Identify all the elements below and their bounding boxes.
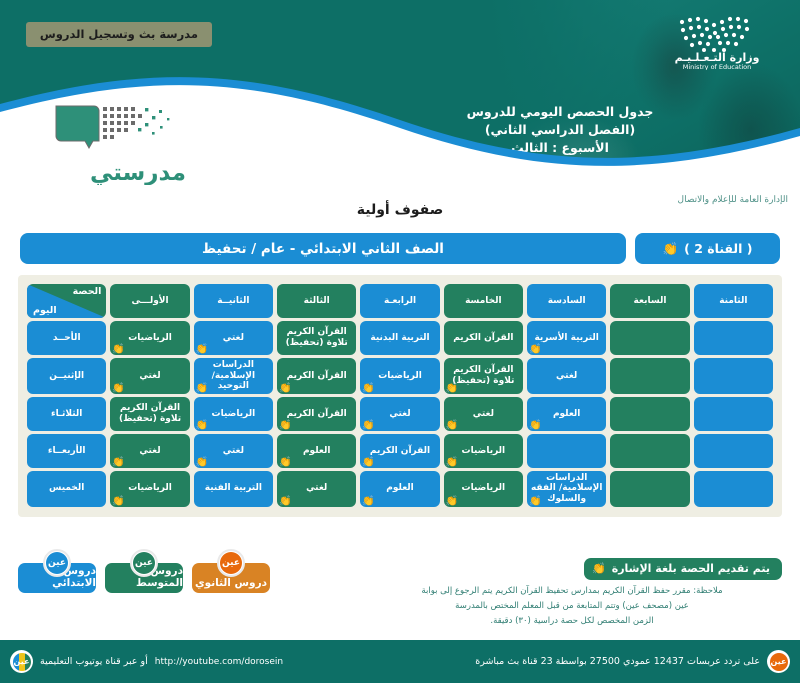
period-header-7: السابعة <box>610 284 689 318</box>
sign-language-hand-icon: 👏 <box>529 497 541 507</box>
channel-label: ( القناة 2 ) <box>684 241 752 256</box>
madrasati-logo-arabic: مدرستي <box>48 162 228 185</box>
lesson-name: القرآن الكريم تلاوة (تحفيظ) <box>286 327 348 348</box>
ain-lesson-button[interactable]: عيندروس الابتدائي <box>18 563 96 593</box>
day-header-cell: الإثنيــن <box>27 358 106 394</box>
youtube-url[interactable]: http://youtube.com/dorosein <box>155 657 283 667</box>
period-header-5: الخامسة <box>444 284 523 318</box>
ain-coin-icon: عين <box>43 549 71 577</box>
satellite-info-text: على تردد عربسات 12437 عمودي 27500 بواسطة… <box>475 656 760 667</box>
lesson-name: لغتي <box>306 483 327 493</box>
ain-coin-icon: عين <box>217 549 245 577</box>
sign-language-hand-icon: 👏 <box>279 458 291 468</box>
broadcast-school-badge: مدرسة بث وتسجيل الدروس <box>26 22 212 47</box>
lesson-cell: الرياضيات👏 <box>194 397 273 431</box>
footer-note: ملاحظة: مقرر حفظ القرآن الكريم بمدارس تح… <box>362 584 782 629</box>
sign-language-hand-icon: 👏 <box>196 458 208 468</box>
channel-badge[interactable]: ( القناة 2 ) 👏 <box>635 233 780 264</box>
lesson-cell: الرياضيات👏 <box>110 321 189 355</box>
lesson-cell: الدراسات الإسلامية/التوحيد👏 <box>194 358 273 394</box>
lesson-name: لغتي <box>223 446 244 456</box>
sign-language-hand-icon: 👏 <box>663 241 679 257</box>
sign-language-hand-icon: 👏 <box>446 458 458 468</box>
lesson-name: القرآن الكريم تلاوة (تحفيظ) <box>452 365 514 386</box>
lesson-name: الدراسات الإسلامية/ الفقه والسلوك <box>531 473 602 504</box>
sign-language-hand-icon: 👏 <box>112 384 124 394</box>
lesson-cell: القرآن الكريم <box>444 321 523 355</box>
madrasati-logo: مدرستي Madrasati <box>48 100 228 192</box>
ain-coin-label: عين <box>13 653 31 671</box>
table-row: العلوم👏لغتي👏لغتي👏القرآن الكريم👏الرياضيات… <box>27 397 773 431</box>
sign-language-hand-icon: 👏 <box>362 458 374 468</box>
sign-language-hand-icon: 👏 <box>446 384 458 394</box>
lesson-name: لغتي <box>139 371 160 381</box>
schedule-table: الثامنةالسابعةالسادسةالخامسةالرابعـةالثا… <box>23 281 777 510</box>
youtube-info: http://youtube.com/dorosein أو عبر قناة … <box>10 650 283 673</box>
footer-note-line-2: عين (مصحف عين) وتتم المتابعة من قبل المع… <box>362 599 782 614</box>
lesson-cell: التربية الأسرية👏 <box>527 321 606 355</box>
lesson-cell: الرياضيات👏 <box>444 471 523 507</box>
lesson-cell: القرآن الكريم تلاوة (تحفيظ)👏 <box>444 358 523 394</box>
lesson-name: التربية الفنية <box>205 483 262 493</box>
lesson-cell: لغتي👏 <box>194 434 273 468</box>
lesson-name: العلوم <box>553 409 580 419</box>
sign-language-hand-icon: 👏 <box>362 497 374 507</box>
bottom-info-bar: عين على تردد عربسات 12437 عمودي 27500 بو… <box>0 640 800 683</box>
sign-language-hand-icon: 👏 <box>279 497 291 507</box>
lesson-cell: القرآن الكريم👏 <box>360 434 439 468</box>
grade-band: صفوف أولية <box>0 199 800 218</box>
lesson-name: العلوم <box>303 446 330 456</box>
lesson-cell <box>610 434 689 468</box>
lesson-name: القرآن الكريم <box>370 446 430 456</box>
lesson-cell <box>694 358 773 394</box>
lesson-cell: لغتي👏 <box>360 397 439 431</box>
ain-coin-icon: عين <box>130 549 158 577</box>
table-corner-header: الحصةاليوم <box>27 284 106 318</box>
subheader-row: ( القناة 2 ) 👏 الصف الثاني الابتدائي - ع… <box>20 233 780 264</box>
day-header-cell: الثلاثـاء <box>27 397 106 431</box>
lesson-cell: الرياضيات👏 <box>360 358 439 394</box>
schedule-table-container: الثامنةالسابعةالسادسةالخامسةالرابعـةالثا… <box>18 275 782 517</box>
satellite-info: عين على تردد عربسات 12437 عمودي 27500 بو… <box>475 650 790 673</box>
ain-lesson-button[interactable]: عيندروس المتوسط <box>105 563 183 593</box>
ain-coin-label: عين <box>220 552 242 574</box>
lesson-cell: القرآن الكريم👏 <box>277 397 356 431</box>
lesson-cell <box>694 321 773 355</box>
lesson-cell <box>694 397 773 431</box>
lesson-cell <box>610 358 689 394</box>
lesson-name: العلوم <box>386 483 413 493</box>
lesson-name: لغتي <box>473 409 494 419</box>
lesson-cell <box>610 471 689 507</box>
lesson-name: القرآن الكريم <box>287 409 347 419</box>
lesson-name: لغتي <box>139 446 160 456</box>
sign-language-hand-icon: 👏 <box>196 345 208 355</box>
lesson-cell <box>694 471 773 507</box>
sign-language-hand-icon: 👏 <box>196 384 208 394</box>
lesson-name: الرياضيات <box>462 446 506 456</box>
sign-language-notice: يتم تقديم الحصة بلغة الإشارة 👏 <box>584 558 782 580</box>
lesson-cell: لغتي👏 <box>277 471 356 507</box>
lesson-name: الرياضيات <box>128 333 172 343</box>
lesson-cell: العلوم👏 <box>360 471 439 507</box>
period-header-3: الثالثة <box>277 284 356 318</box>
lesson-cell: لغتي <box>527 358 606 394</box>
lesson-cell <box>694 434 773 468</box>
lesson-name: لغتي <box>389 409 410 419</box>
lesson-cell: القرآن الكريم تلاوة (تحفيظ) <box>277 321 356 355</box>
lesson-cell: الرياضيات👏 <box>444 434 523 468</box>
lesson-name: القرآن الكريم تلاوة (تحفيظ) <box>119 403 181 424</box>
ain-coin-label: عين <box>770 653 788 671</box>
period-header-4: الرابعـة <box>360 284 439 318</box>
lesson-name: الرياضيات <box>128 483 172 493</box>
youtube-info-text: أو عبر قناة يوتيوب التعليمية <box>40 656 148 667</box>
ain-coin-label: عين <box>46 552 68 574</box>
schedule-table-head: الثامنةالسابعةالسادسةالخامسةالرابعـةالثا… <box>27 284 773 318</box>
ain-button-label: دروس الثانوي <box>195 577 267 589</box>
footer-note-line-1: ملاحظة: مقرر حفظ القرآن الكريم بمدارس تح… <box>362 584 782 599</box>
lesson-cell: القرآن الكريم تلاوة (تحفيظ) <box>110 397 189 431</box>
header-row: الثامنةالسابعةالسادسةالخامسةالرابعـةالثا… <box>27 284 773 318</box>
lesson-cell: لغتي👏 <box>110 434 189 468</box>
lesson-cell: العلوم👏 <box>277 434 356 468</box>
lesson-name: الرياضيات <box>212 409 256 419</box>
lesson-cell: التربية الفنية <box>194 471 273 507</box>
lesson-cell: القرآن الكريم👏 <box>277 358 356 394</box>
day-header-cell: الأحــد <box>27 321 106 355</box>
sign-language-hand-icon: 👏 <box>112 345 124 355</box>
lesson-cell: العلوم👏 <box>527 397 606 431</box>
lesson-cell: الدراسات الإسلامية/ الفقه والسلوك👏 <box>527 471 606 507</box>
table-row: الرياضيات👏القرآن الكريم👏العلوم👏لغتي👏لغتي… <box>27 434 773 468</box>
sign-language-hand-icon: 👏 <box>592 562 606 575</box>
sign-language-hand-icon: 👏 <box>446 497 458 507</box>
lesson-name: القرآن الكريم <box>287 371 347 381</box>
lesson-cell: التربية البدنية <box>360 321 439 355</box>
corner-period-label: الحصة <box>73 286 102 297</box>
lesson-name: لغتي <box>223 333 244 343</box>
footer-note-line-3: الزمن المخصص لكل حصة دراسية (٣٠) دقيقة. <box>362 614 782 629</box>
content-sheet: الإدارة العامة للإعلام والاتصال صفوف أول… <box>0 185 800 640</box>
lesson-cell: لغتي👏 <box>444 397 523 431</box>
period-header-6: السادسة <box>527 284 606 318</box>
grade-band-label: صفوف أولية <box>357 202 443 218</box>
lesson-cell <box>610 397 689 431</box>
sign-language-hand-icon: 👏 <box>362 384 374 394</box>
sign-language-hand-icon: 👏 <box>112 497 124 507</box>
lesson-cell: الرياضيات👏 <box>110 471 189 507</box>
ain-lesson-button[interactable]: عيندروس الثانوي <box>192 563 270 593</box>
table-row: التربية الأسرية👏القرآن الكريمالتربية الب… <box>27 321 773 355</box>
ain-coin-label: عين <box>133 552 155 574</box>
class-title-pill: الصف الثاني الابتدائي - عام / تحفيظ <box>20 233 626 264</box>
lesson-name: القرآن الكريم <box>453 333 513 343</box>
lesson-name: التربية البدنية <box>370 333 429 343</box>
sign-language-hand-icon: 👏 <box>529 421 541 431</box>
ain-coin-icon: عين <box>767 650 790 673</box>
sign-language-hand-icon: 👏 <box>279 384 291 394</box>
lesson-cell <box>527 434 606 468</box>
lesson-cell: لغتي👏 <box>110 358 189 394</box>
lesson-name: الدراسات الإسلامية/التوحيد <box>212 360 255 391</box>
lesson-name: لغتي <box>556 371 577 381</box>
sign-language-hand-icon: 👏 <box>362 421 374 431</box>
ain-links-group: عيندروس الثانويعيندروس المتوسطعيندروس ال… <box>18 563 270 593</box>
period-header-1: الأولـــى <box>110 284 189 318</box>
corner-day-label: اليوم <box>33 305 57 316</box>
table-row: لغتيالقرآن الكريم تلاوة (تحفيظ)👏الرياضيا… <box>27 358 773 394</box>
lesson-name: الرياضيات <box>378 371 422 381</box>
lesson-name: التربية الأسرية <box>534 333 598 343</box>
sign-language-hand-icon: 👏 <box>196 421 208 431</box>
lesson-name: الرياضيات <box>462 483 506 493</box>
sign-notice-text: يتم تقديم الحصة بلغة الإشارة <box>612 562 770 575</box>
sign-language-hand-icon: 👏 <box>446 421 458 431</box>
sign-language-hand-icon: 👏 <box>529 345 541 355</box>
period-header-2: الثانيــة <box>194 284 273 318</box>
schedule-poster: مدرسة بث وتسجيل الدروس وزارة <box>0 0 800 683</box>
day-header-cell: الأربعــاء <box>27 434 106 468</box>
schedule-table-body: التربية الأسرية👏القرآن الكريمالتربية الب… <box>27 321 773 507</box>
period-header-8: الثامنة <box>694 284 773 318</box>
lesson-cell <box>610 321 689 355</box>
day-header-cell: الخميس <box>27 471 106 507</box>
sign-language-hand-icon: 👏 <box>279 421 291 431</box>
sign-language-hand-icon: 👏 <box>112 458 124 468</box>
table-row: الدراسات الإسلامية/ الفقه والسلوك👏الرياض… <box>27 471 773 507</box>
ain-coin-icon: عين <box>10 650 33 673</box>
lesson-cell: لغتي👏 <box>194 321 273 355</box>
